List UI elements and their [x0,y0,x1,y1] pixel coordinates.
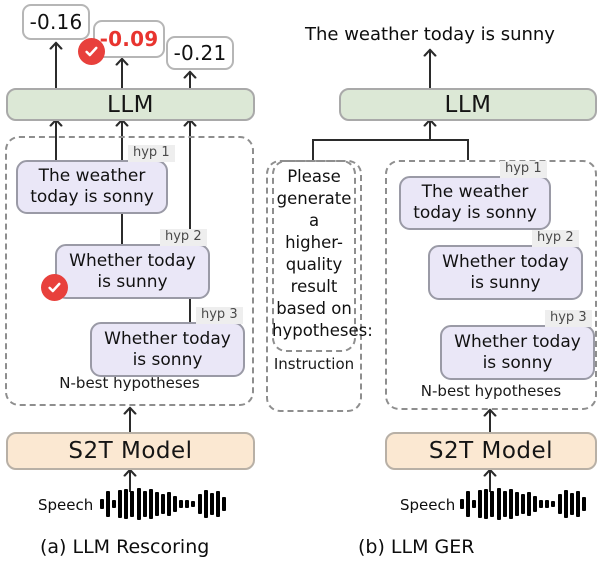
hypothesis-box-b-1: The weather today is sonny [399,176,551,230]
waveform-bar [484,489,488,519]
llm-module-b: LLM [339,88,597,121]
figure-root: -0.16 -0.09 -0.21 LLM N-best hypotheses … [0,0,600,564]
hypothesis-a-3-line1: Whether today [104,329,231,350]
check-circle-icon-best-score [78,38,105,65]
waveform-bar [478,490,482,518]
waveform-bar [539,500,543,508]
waveform-bar [558,494,562,514]
waveform-bar [460,499,464,509]
hypothesis-tag-b-2: hyp 2 [532,230,579,247]
hypothesis-b-3-line2: is sonny [483,353,553,374]
waveform-bar [191,501,195,507]
panel-a-caption: (a) LLM Rescoring [40,536,209,558]
waveform-bar [155,492,159,516]
waveform-bar [533,496,537,512]
instruction-text-b: Please generate a higher- quality result… [272,166,356,342]
s2t-module-a: S2T Model [6,432,255,470]
waveform-bar [173,496,177,512]
waveform-bar [137,488,141,520]
waveform-bar [551,501,555,507]
hypothesis-tag-a-3: hyp 3 [196,307,243,324]
hypothesis-b-2-line2: is sunny [470,273,540,294]
waveform-bar [185,500,189,508]
instruction-label-b: Instruction [266,355,362,373]
hypothesis-a-1-line1: The weather [39,166,146,187]
speech-label-a: Speech [38,496,93,514]
hypothesis-a-2-line2: is sunny [97,272,167,293]
llm-module-a: LLM [6,88,255,121]
waveform-bar [124,489,128,519]
hypothesis-tag-b-1: hyp 1 [500,161,547,178]
waveform-bar [118,490,122,518]
waveform-bar [515,492,519,516]
hypothesis-b-1-line2: today is sonny [413,203,537,224]
waveform-bar [472,500,476,508]
waveform-bar [143,491,147,517]
waveform-bar [161,494,165,514]
score-chip-hyp3: -0.21 [166,36,234,70]
nbest-container-b-label: N-best hypotheses [385,382,597,400]
waveform-bar [100,499,104,509]
waveform-bar [503,491,507,517]
waveform-bar [509,489,513,519]
waveform-bar [216,491,220,517]
hypothesis-tag-a-1: hyp 1 [128,145,175,162]
waveform-bar [179,500,183,508]
speech-label-b: Speech [400,496,455,514]
hypothesis-b-1-line1: The weather [422,182,529,203]
hypothesis-a-2-line1: Whether today [69,251,196,272]
waveform-bar [149,489,153,519]
waveform-bar [570,493,574,515]
waveform-bar [167,492,171,516]
waveform-bar [112,500,116,508]
waveform-bar [222,497,226,511]
waveform-bar [582,497,586,511]
score-chip-hyp1: -0.16 [22,4,90,40]
check-circle-icon-hypothesis-2 [41,274,68,301]
waveform-bar [497,488,501,520]
hypothesis-b-2-line1: Whether today [442,252,569,273]
s2t-module-b: S2T Model [385,432,597,470]
waveform-bar [576,491,580,517]
audio-waveform-icon-b [460,487,588,521]
panel-b-caption: (b) LLM GER [358,536,474,558]
hypothesis-box-a-3: Whether today is sonny [90,322,245,377]
hypothesis-box-b-2: Whether today is sunny [428,245,583,300]
hypothesis-tag-a-2: hyp 2 [160,229,207,246]
waveform-bar [210,493,214,515]
hypothesis-b-3-line1: Whether today [454,332,581,353]
hypothesis-box-b-3: Whether today is sonny [440,325,595,380]
waveform-bar [545,500,549,508]
hypothesis-box-a-1: The weather today is sonny [16,160,168,214]
waveform-bar [198,494,202,514]
audio-waveform-icon-a [100,487,228,521]
waveform-bar [521,494,525,514]
waveform-bar [564,490,568,518]
hypothesis-a-3-line2: is sonny [133,350,203,371]
llm-output-text-b: The weather today is sunny [305,24,555,45]
waveform-bar [490,491,494,517]
hypothesis-a-1-line2: today is sonny [30,187,154,208]
waveform-bar [204,490,208,518]
waveform-bar [466,491,470,517]
waveform-bar [130,491,134,517]
hypothesis-tag-b-3: hyp 3 [545,310,592,327]
hypothesis-box-a-2: Whether today is sunny [55,244,210,299]
waveform-bar [106,491,110,517]
waveform-bar [527,492,531,516]
